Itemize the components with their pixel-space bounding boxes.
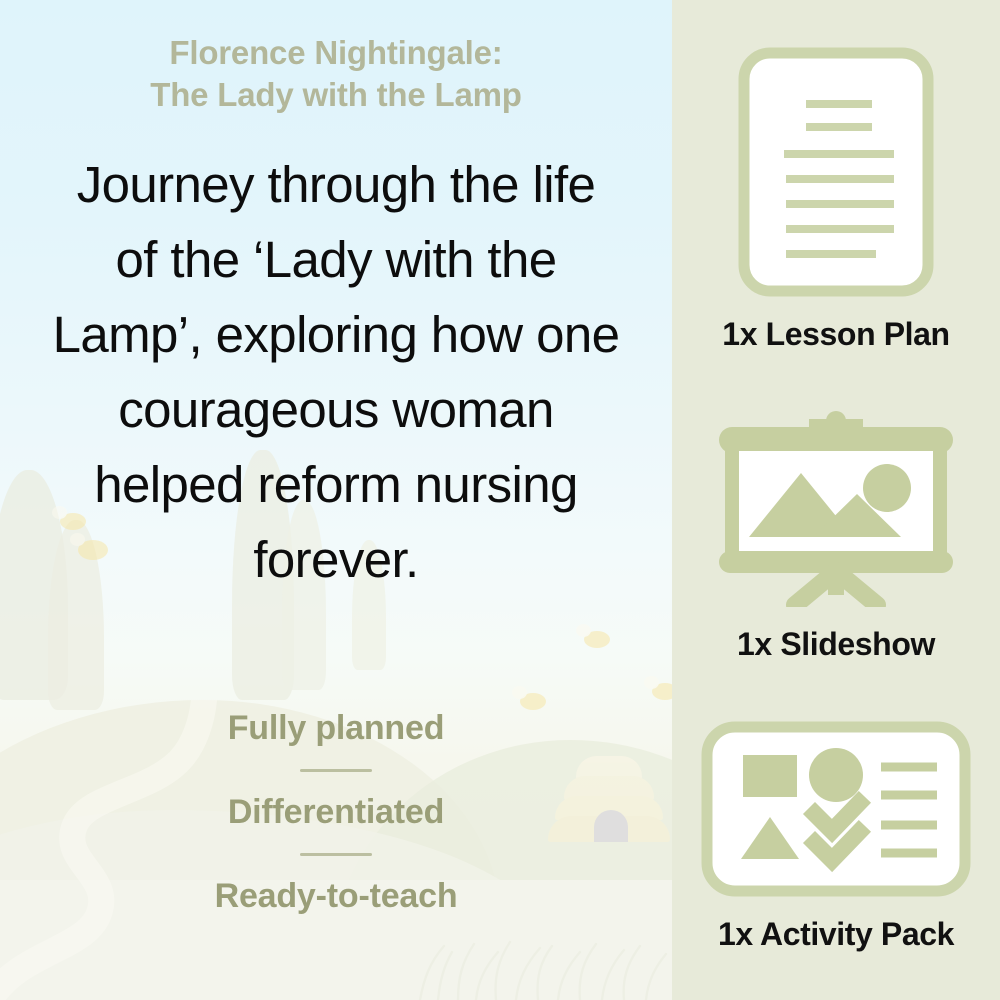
left-content: Florence Nightingale: The Lady with the … [0,0,672,1000]
assets-panel: 1x Lesson Plan [672,0,1000,1000]
resource-preview-card: Florence Nightingale: The Lady with the … [0,0,1000,1000]
description-text: Journey through the life of the ‘Lady wi… [51,148,621,598]
asset-label-activity-pack: 1x Activity Pack [718,916,954,953]
asset-label-slideshow: 1x Slideshow [737,626,935,663]
asset-item-activity-pack: 1x Activity Pack [701,721,971,953]
feature-divider [300,769,372,772]
asset-item-lesson-plan: 1x Lesson Plan [722,47,949,353]
feature-item-differentiated: Differentiated [228,789,444,836]
feature-item-ready-to-teach: Ready-to-teach [215,873,458,920]
feature-divider [300,853,372,856]
activity-card-icon [701,721,971,902]
asset-item-slideshow: 1x Slideshow [705,411,967,663]
left-panel: Florence Nightingale: The Lady with the … [0,0,672,1000]
projector-screen-icon [705,411,967,612]
asset-label-lesson-plan: 1x Lesson Plan [722,316,949,353]
feature-list: Fully planned Differentiated Ready-to-te… [215,705,458,920]
feature-item-fully-planned: Fully planned [228,705,445,752]
document-icon [738,47,934,302]
page-title: Florence Nightingale: The Lady with the … [150,32,521,116]
